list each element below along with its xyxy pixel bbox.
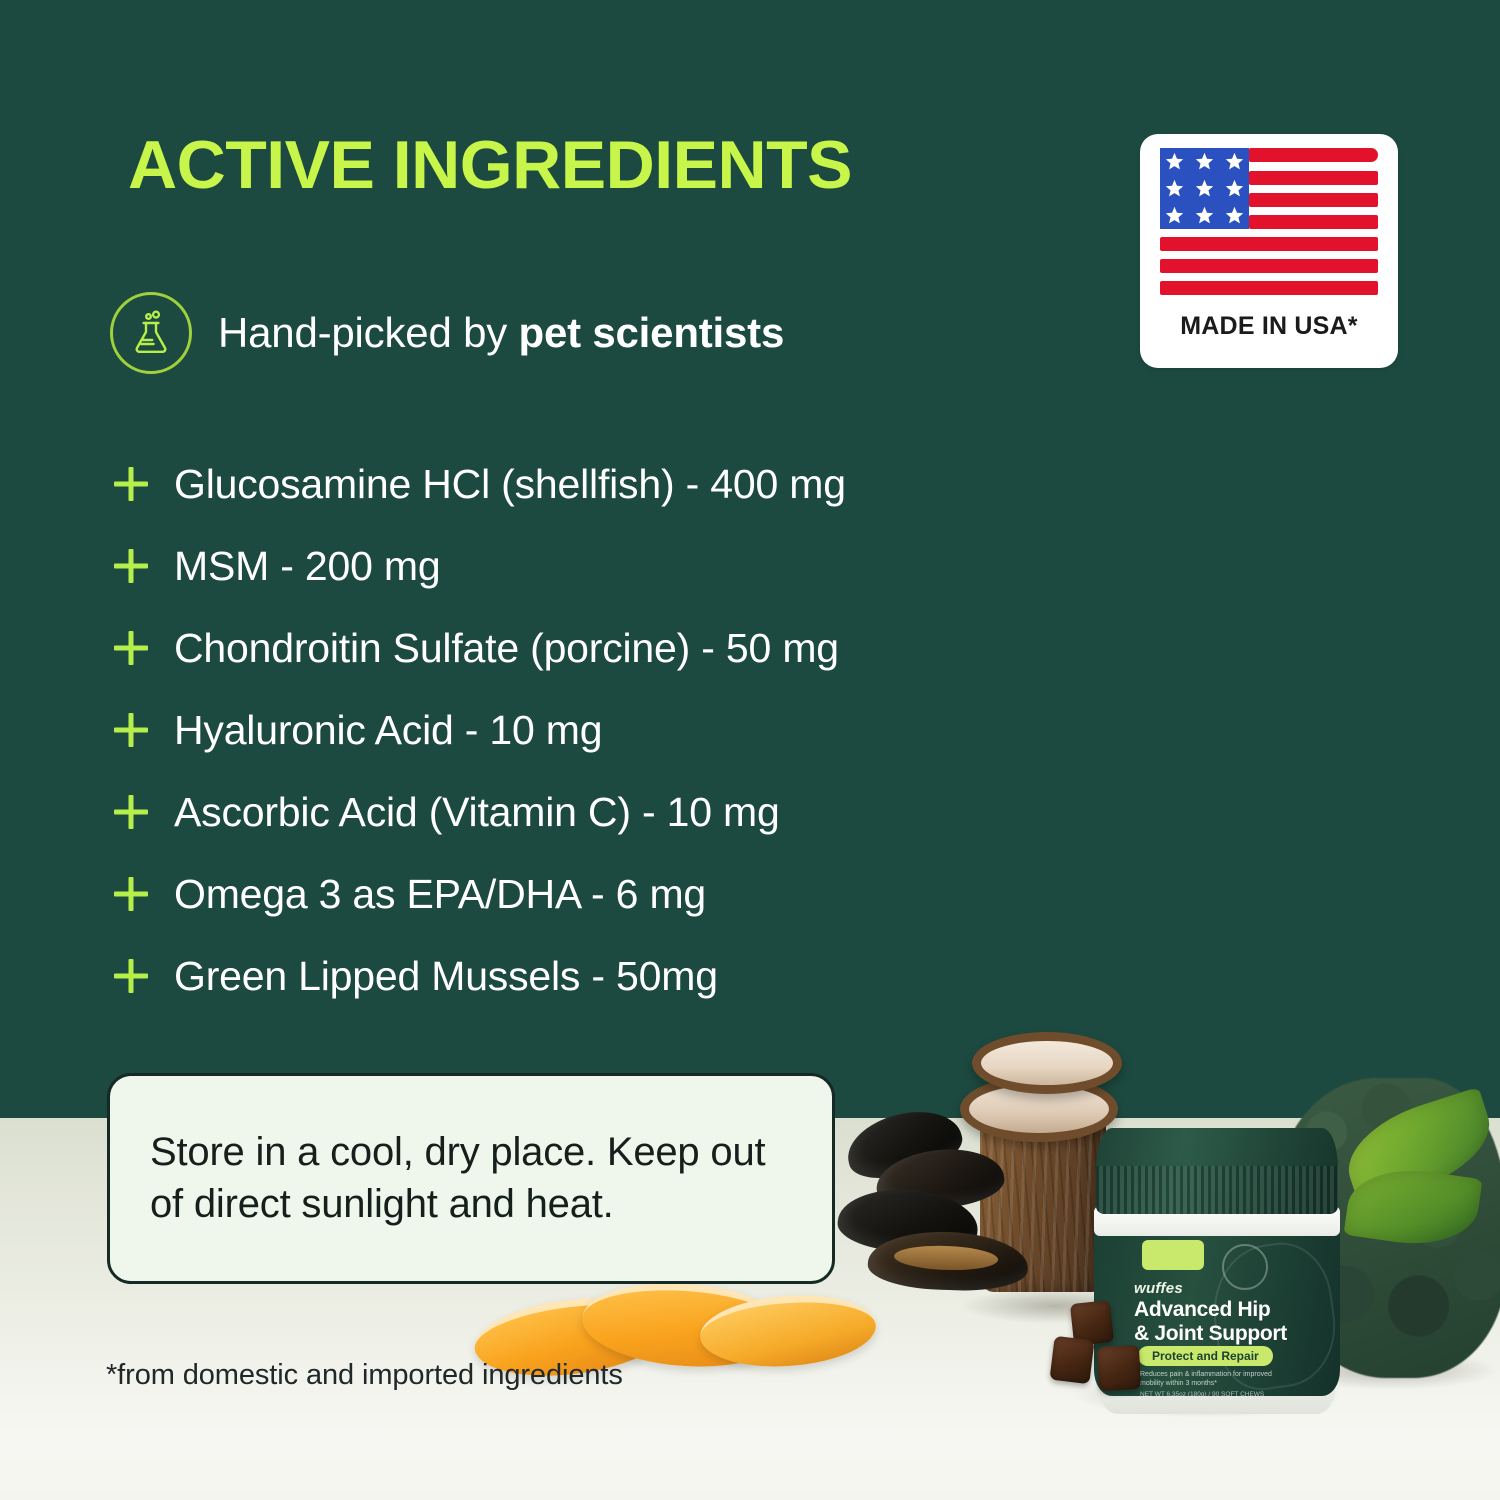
list-item: MSM - 200 mg bbox=[110, 525, 1090, 607]
star-icon bbox=[1165, 206, 1184, 225]
made-in-usa-badge: MADE IN USA* bbox=[1140, 134, 1398, 368]
product-photo-scene: wuffes Advanced Hip & Joint Support Prot… bbox=[820, 1020, 1500, 1500]
star-icon bbox=[1195, 206, 1214, 225]
star-icon bbox=[1195, 152, 1214, 171]
list-item: Omega 3 as EPA/DHA - 6 mg bbox=[110, 853, 1090, 935]
ingredient-label: Glucosamine HCl (shellfish) - 400 mg bbox=[174, 461, 846, 508]
ingredient-label: Chondroitin Sulfate (porcine) - 50 mg bbox=[174, 625, 839, 672]
jar-title-line-1: Advanced Hip bbox=[1134, 1298, 1270, 1321]
subhead-row: Hand-picked by pet scientists bbox=[110, 292, 784, 374]
list-item: Glucosamine HCl (shellfish) - 400 mg bbox=[110, 443, 1090, 525]
storage-text: Store in a cool, dry place. Keep out of … bbox=[150, 1127, 792, 1229]
ingredient-label: Ascorbic Acid (Vitamin C) - 10 mg bbox=[174, 789, 780, 836]
page-title: ACTIVE INGREDIENTS bbox=[128, 130, 852, 201]
plus-icon bbox=[110, 955, 152, 997]
soft-chew bbox=[1049, 1336, 1094, 1385]
jar-lid bbox=[1096, 1128, 1338, 1214]
ingredient-label: Omega 3 as EPA/DHA - 6 mg bbox=[174, 871, 706, 918]
jar-product-title: Advanced Hip & Joint Support bbox=[1134, 1298, 1287, 1345]
jar-brand-name: wuffes bbox=[1134, 1280, 1183, 1297]
usa-flag-icon bbox=[1160, 148, 1378, 296]
list-item: Ascorbic Acid (Vitamin C) - 10 mg bbox=[110, 771, 1090, 853]
flask-icon bbox=[110, 292, 192, 374]
subhead-prefix: Hand-picked by bbox=[218, 309, 519, 356]
jar-size-chip bbox=[1142, 1240, 1204, 1270]
star-icon bbox=[1225, 206, 1244, 225]
star-icon bbox=[1165, 152, 1184, 171]
mussel-shell bbox=[867, 1229, 1029, 1293]
plus-icon bbox=[110, 463, 152, 505]
made-in-usa-caption: MADE IN USA* bbox=[1180, 312, 1357, 341]
ingredient-label: Hyaluronic Acid - 10 mg bbox=[174, 707, 602, 754]
plus-icon bbox=[110, 627, 152, 669]
star-icon bbox=[1225, 179, 1244, 198]
ingredient-label: Green Lipped Mussels - 50mg bbox=[174, 953, 718, 1000]
list-item: Chondroitin Sulfate (porcine) - 50 mg bbox=[110, 607, 1090, 689]
jar-net-weight: NET WT 6.35oz (180g) / 90 SOFT CHEWS bbox=[1140, 1391, 1264, 1396]
footnote: *from domestic and imported ingredients bbox=[106, 1359, 623, 1392]
storage-callout: Store in a cool, dry place. Keep out of … bbox=[107, 1073, 835, 1284]
plus-icon bbox=[110, 873, 152, 915]
subhead-text: Hand-picked by pet scientists bbox=[218, 309, 784, 357]
quality-seal-icon bbox=[1222, 1244, 1268, 1290]
list-item: Hyaluronic Acid - 10 mg bbox=[110, 689, 1090, 771]
plus-icon bbox=[110, 709, 152, 751]
plus-icon bbox=[110, 791, 152, 833]
ingredient-label: MSM - 200 mg bbox=[174, 543, 440, 590]
wood-disc bbox=[972, 1032, 1122, 1094]
mussel-flesh bbox=[894, 1244, 999, 1272]
jar-claim-pill: Protect and Repair bbox=[1138, 1346, 1273, 1366]
subhead-emphasis: pet scientists bbox=[519, 309, 785, 356]
star-icon bbox=[1225, 152, 1244, 171]
ingredient-list: Glucosamine HCl (shellfish) - 400 mg MSM… bbox=[110, 443, 1090, 1017]
flag-canton bbox=[1160, 148, 1249, 229]
star-icon bbox=[1195, 179, 1214, 198]
plus-icon bbox=[110, 545, 152, 587]
soft-chew bbox=[1097, 1345, 1141, 1391]
star-icon bbox=[1165, 179, 1184, 198]
jar-fine-print: Reduces pain & inflammation for improved… bbox=[1140, 1370, 1290, 1389]
jar-title-line-2: & Joint Support bbox=[1134, 1322, 1287, 1345]
list-item: Green Lipped Mussels - 50mg bbox=[110, 935, 1090, 1017]
product-infographic: wuffes Advanced Hip & Joint Support Prot… bbox=[0, 0, 1500, 1500]
